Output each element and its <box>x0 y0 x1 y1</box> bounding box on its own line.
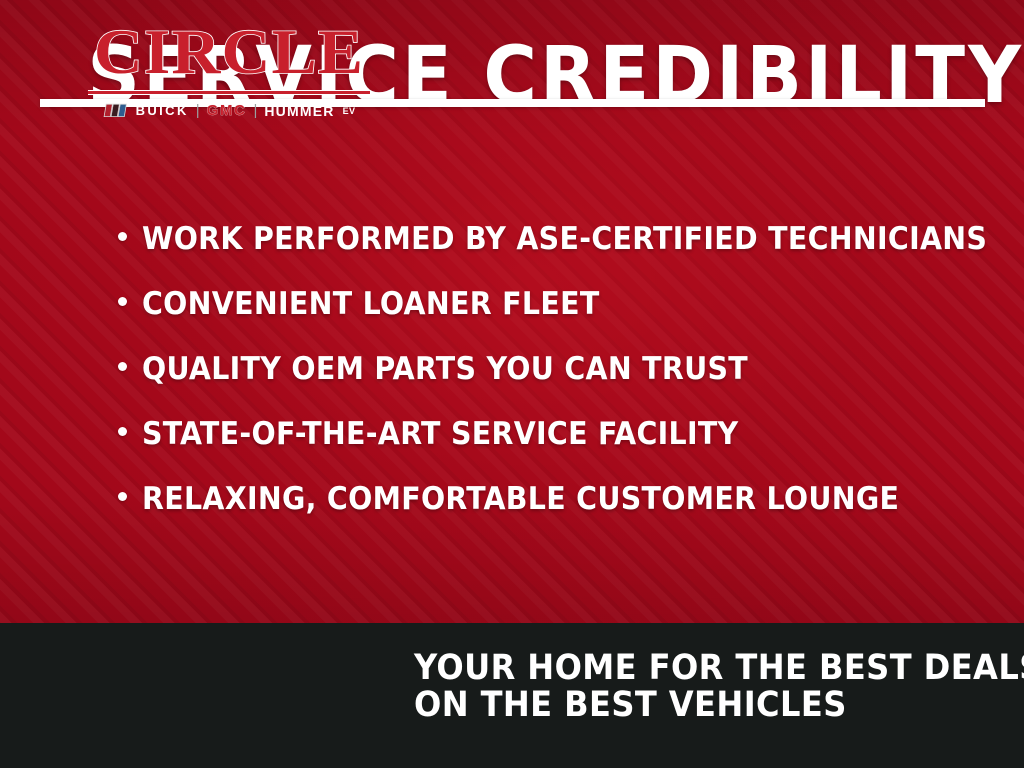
list-item-label: CONVENIENT LOANER FLEET <box>142 287 600 321</box>
brand-lockup-row: BUICK | GMC | HUMMER EV <box>88 103 370 118</box>
brand-buick-label: BUICK <box>136 104 189 118</box>
dealer-wordmark: CIRCLE <box>80 20 379 84</box>
brand-gmc-label: GMC <box>207 104 247 118</box>
bullet-dot-icon <box>118 297 127 306</box>
bullet-dot-icon <box>118 232 127 241</box>
list-item: RELAXING, COMFORTABLE CUSTOMER LOUNGE <box>0 482 1024 547</box>
brand-separator: | <box>196 104 200 118</box>
list-item-label: QUALITY OEM PARTS YOU CAN TRUST <box>142 352 748 386</box>
list-item: QUALITY OEM PARTS YOU CAN TRUST <box>0 352 1024 417</box>
logo-divider-rule <box>88 90 370 95</box>
brand-hummer-label: HUMMER <box>264 104 334 118</box>
tagline-line-2: ON THE BEST VEHICLES <box>414 687 1024 724</box>
bullet-dot-icon <box>118 492 127 501</box>
list-item-label: RELAXING, COMFORTABLE CUSTOMER LOUNGE <box>142 482 899 516</box>
list-item-label: WORK PERFORMED BY ASE-CERTIFIED TECHNICI… <box>142 222 987 256</box>
service-credibility-slide: SERVICE CREDIBILITY WORK PERFORMED BY AS… <box>0 0 1024 768</box>
list-item: STATE-OF-THE-ART SERVICE FACILITY <box>0 417 1024 482</box>
dealer-logo: CIRCLE BUICK | GMC | HUMMER EV <box>88 20 370 118</box>
list-item: CONVENIENT LOANER FLEET <box>0 287 1024 352</box>
buick-tri-shield-icon <box>103 103 129 118</box>
brand-hummer-ev-suffix: EV <box>343 104 356 118</box>
footer-tagline: YOUR HOME FOR THE BEST DEALS ON THE BEST… <box>414 650 1014 724</box>
brand-separator: | <box>253 104 257 118</box>
feature-bullet-list: WORK PERFORMED BY ASE-CERTIFIED TECHNICI… <box>0 222 1024 547</box>
bullet-dot-icon <box>118 362 127 371</box>
bullet-dot-icon <box>118 427 127 436</box>
list-item: WORK PERFORMED BY ASE-CERTIFIED TECHNICI… <box>0 222 1024 287</box>
tagline-line-1: YOUR HOME FOR THE BEST DEALS <box>414 650 1024 687</box>
list-item-label: STATE-OF-THE-ART SERVICE FACILITY <box>142 417 738 451</box>
